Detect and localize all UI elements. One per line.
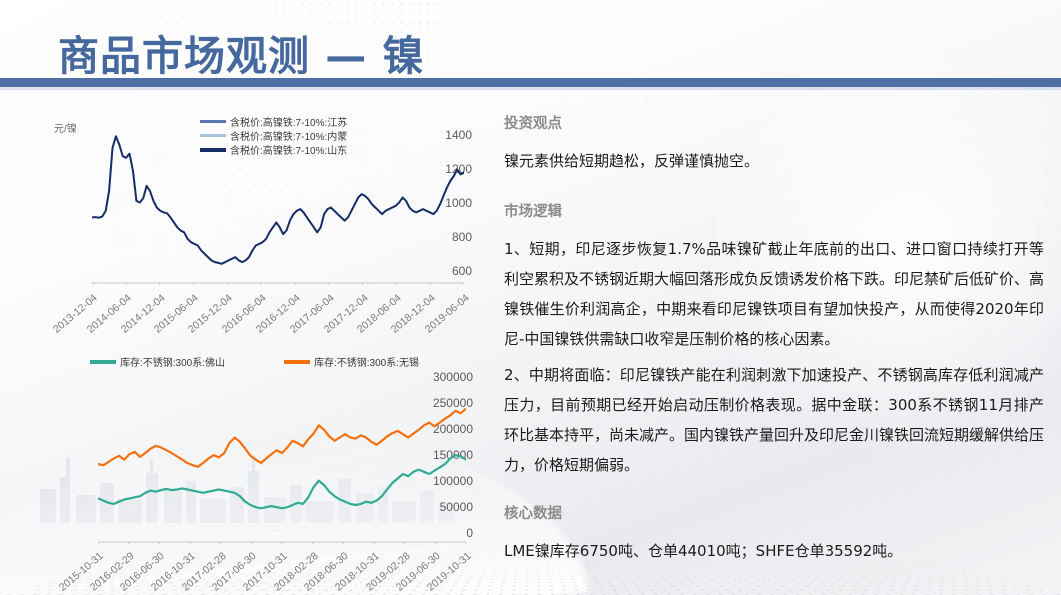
page-title: 商品市场观测 — 镍 <box>58 22 425 82</box>
section-investment-view: 投资观点 镍元素供给短期趋松，反弹谨慎抛空。 <box>504 112 1044 176</box>
slide-root: 商品市场观测 — 镍 元/镍 含税价:高镍铁:7-10%:江苏 含税价:高镍铁:… <box>0 0 1061 595</box>
chart-stainless-steel-inventory: 库存:不锈钢:300系:佛山 库存:不锈钢:300系:无锡 300000 250… <box>18 352 473 587</box>
chart1-plot-area <box>92 120 464 285</box>
chart1-y-unit-label: 元/镍 <box>54 120 77 135</box>
section-heading-core-data: 核心数据 <box>504 502 1044 523</box>
chart-nickel-pig-iron-price: 元/镍 含税价:高镍铁:7-10%:江苏 含税价:高镍铁:7-10%:内蒙 含税… <box>32 112 472 337</box>
core-data-paragraph: LME镍库存6750吨、仓单44010吨；SHFE仓单35592吨。 <box>504 536 1044 566</box>
investment-view-paragraph: 镍元素供给短期趋松，反弹谨慎抛空。 <box>504 146 1044 176</box>
market-logic-paragraph-2: 2、中期将面临：印尼镍铁产能在利润刺激下加速投产、不锈钢高库存低利润减产压力，目… <box>504 360 1044 480</box>
title-divider-shadow <box>0 87 1061 90</box>
chart2-plot-area <box>98 362 466 544</box>
commentary-panel: 投资观点 镍元素供给短期趋松，反弹谨慎抛空。 市场逻辑 1、短期，印尼逐步恢复1… <box>504 112 1044 586</box>
market-logic-paragraph-1: 1、短期，印尼逐步恢复1.7%品味镍矿截止年底前的出口、进口窗口持续打开等利空累… <box>504 234 1044 354</box>
section-heading-investment-view: 投资观点 <box>504 112 1044 133</box>
title-divider-bar <box>0 78 1061 87</box>
section-market-logic: 市场逻辑 1、短期，印尼逐步恢复1.7%品味镍矿截止年底前的出口、进口窗口持续打… <box>504 200 1044 480</box>
section-heading-market-logic: 市场逻辑 <box>504 200 1044 221</box>
section-core-data: 核心数据 LME镍库存6750吨、仓单44010吨；SHFE仓单35592吨。 <box>504 502 1044 566</box>
